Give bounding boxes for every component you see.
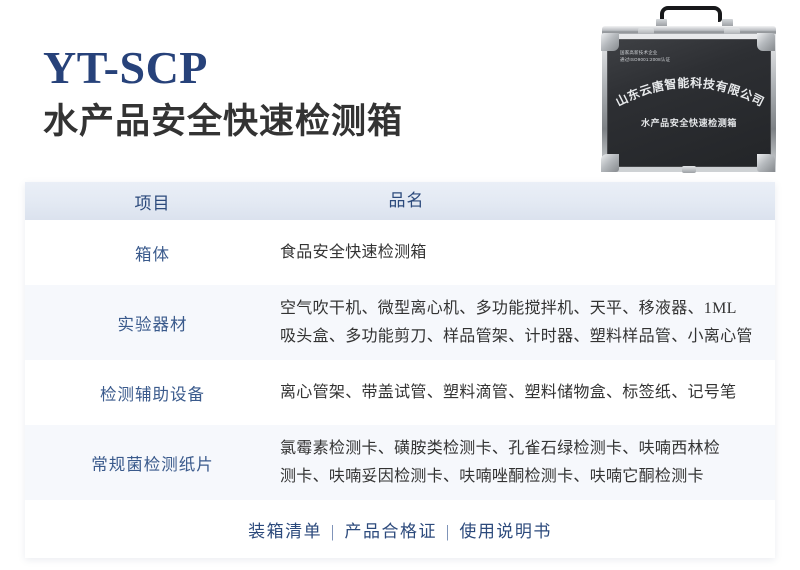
row-label-lab-equipment: 实验器材 bbox=[25, 311, 280, 335]
value-line: 氯霉素检测卡、磺胺类检测卡、孔雀石绿检测卡、呋喃西林检 bbox=[280, 435, 773, 463]
case-model-label: 水产品安全快速检测箱 bbox=[598, 116, 780, 129]
case-company-arc: 山东云唐智能科技有限公司 bbox=[612, 70, 768, 110]
footer-separator: | bbox=[328, 522, 339, 541]
case-handle-icon bbox=[660, 6, 722, 22]
case-latch-bottom-center bbox=[682, 166, 696, 173]
value-line: 吸头盒、多功能剪刀、样品管架、计时器、塑料样品管、小离心管 bbox=[280, 323, 773, 351]
footer-links: 装箱清单 | 产品合格证 | 使用说明书 bbox=[248, 517, 552, 542]
svg-text:山东云唐智能科技有限公司: 山东云唐智能科技有限公司 bbox=[613, 75, 767, 109]
case-corner-top-left bbox=[601, 33, 619, 51]
title-block: YT-SCP 水产品安全快速检测箱 bbox=[43, 44, 403, 143]
row-value-case: 食品安全快速检测箱 bbox=[280, 239, 775, 267]
product-code: YT-SCP bbox=[43, 44, 403, 92]
table-row: 常规菌检测纸片 氯霉素检测卡、磺胺类检测卡、孔雀石绿检测卡、呋喃西林检 测卡、呋… bbox=[25, 425, 775, 500]
row-value-auxiliary-equipment: 离心管架、带盖试管、塑料滴管、塑料储物盒、标签纸、记号笔 bbox=[280, 379, 775, 407]
footer-separator: | bbox=[443, 522, 454, 541]
footer-link-packing-list[interactable]: 装箱清单 bbox=[248, 522, 322, 541]
row-label-auxiliary-equipment: 检测辅助设备 bbox=[25, 381, 280, 405]
page-title: 水产品安全快速检测箱 bbox=[43, 102, 403, 142]
row-label-test-strips: 常规菌检测纸片 bbox=[25, 451, 280, 475]
product-case-image: 国家高新技术企业 通过ISO9001:2008认证 山东云唐智能科技有限公司 水… bbox=[598, 4, 780, 176]
value-line: 食品安全快速检测箱 bbox=[280, 239, 773, 267]
case-corner-bottom-right bbox=[757, 154, 775, 172]
value-line: 测卡、呋喃妥因检测卡、呋喃唑酮检测卡、呋喃它酮检测卡 bbox=[280, 463, 773, 491]
value-line: 离心管架、带盖试管、塑料滴管、塑料储物盒、标签纸、记号笔 bbox=[280, 379, 773, 407]
case-corner-bottom-left bbox=[601, 154, 619, 172]
specification-table: 项目 品名 箱体 食品安全快速检测箱 实验器材 空气吹干机、微型离心机、多功能搅… bbox=[25, 182, 775, 558]
table-footer-row: 装箱清单 | 产品合格证 | 使用说明书 bbox=[25, 500, 775, 558]
row-value-test-strips: 氯霉素检测卡、磺胺类检测卡、孔雀石绿检测卡、呋喃西林检 测卡、呋喃妥因检测卡、呋… bbox=[280, 435, 775, 491]
value-line: 空气吹干机、微型离心机、多功能搅拌机、天平、移液器、1ML bbox=[280, 295, 773, 323]
case-certification-text: 国家高新技术企业 通过ISO9001:2008认证 bbox=[620, 50, 670, 63]
case-company-name: 山东云唐智能科技有限公司 bbox=[613, 75, 767, 109]
table-row: 实验器材 空气吹干机、微型离心机、多功能搅拌机、天平、移液器、1ML 吸头盒、多… bbox=[25, 285, 775, 360]
page-header: YT-SCP 水产品安全快速检测箱 国家高新技术企业 通过ISO9001:200… bbox=[0, 0, 800, 182]
footer-link-certificate[interactable]: 产品合格证 bbox=[345, 522, 438, 541]
footer-link-manual[interactable]: 使用说明书 bbox=[459, 522, 552, 541]
row-value-lab-equipment: 空气吹干机、微型离心机、多功能搅拌机、天平、移液器、1ML 吸头盒、多功能剪刀、… bbox=[280, 295, 775, 351]
column-header-item: 项目 bbox=[25, 189, 280, 214]
table-row: 检测辅助设备 离心管架、带盖试管、塑料滴管、塑料储物盒、标签纸、记号笔 bbox=[25, 360, 775, 425]
table-row: 箱体 食品安全快速检测箱 bbox=[25, 220, 775, 285]
case-corner-top-right bbox=[757, 33, 775, 51]
case-cert-line-2: 通过ISO9001:2008认证 bbox=[620, 57, 670, 64]
row-label-case: 箱体 bbox=[25, 241, 280, 265]
column-header-name: 品名 bbox=[280, 186, 775, 216]
table-header-row: 项目 品名 bbox=[25, 182, 775, 220]
